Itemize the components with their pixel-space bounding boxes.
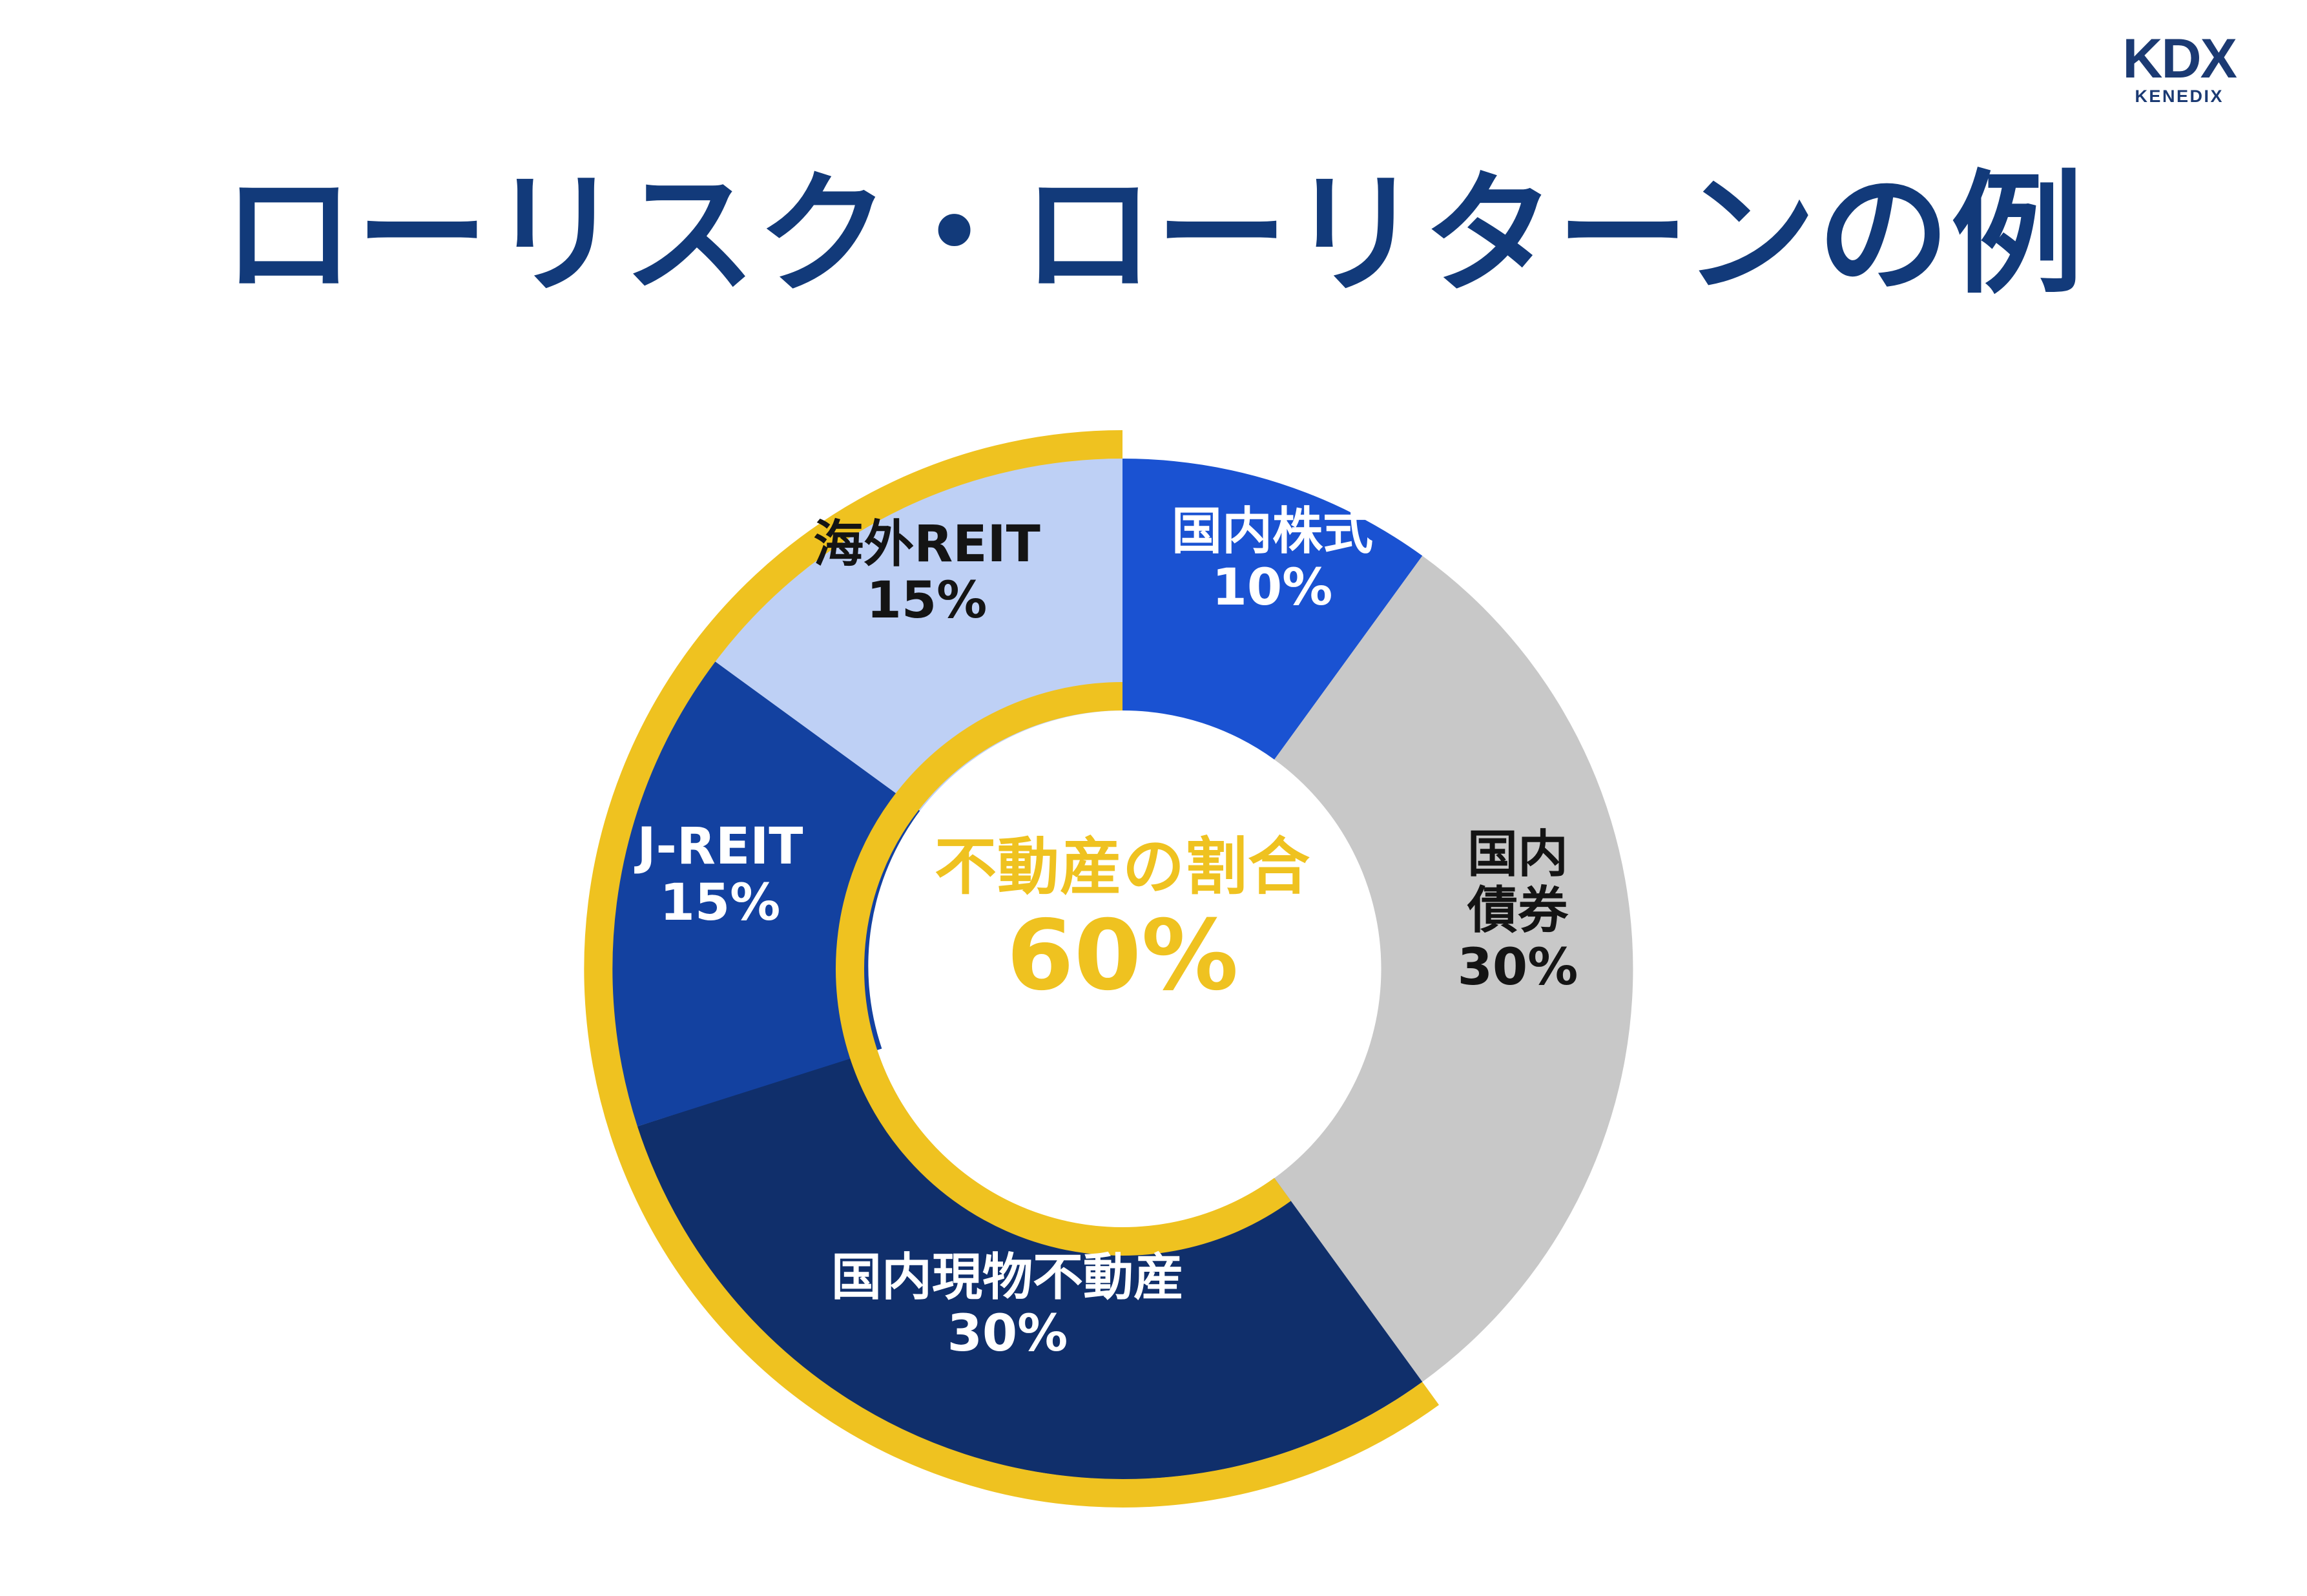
donut-chart-svg: [0, 0, 2307, 1596]
slice-domestic-real-estate[interactable]: [637, 1049, 1423, 1480]
donut-chart: 国内株式 10% 国内 債券 30% 国内現物不動産 30% J-REIT 15…: [0, 0, 2307, 1596]
donut-slices: [611, 459, 1633, 1479]
highlight-ring-inner-arc: [850, 696, 1283, 1241]
